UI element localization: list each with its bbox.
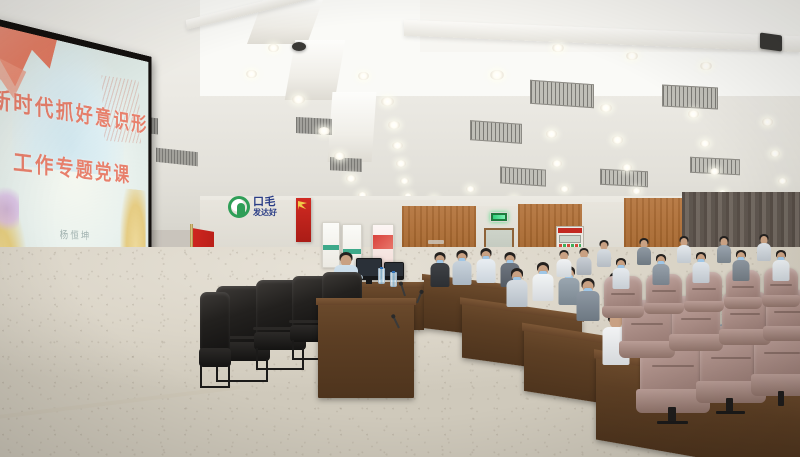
rear-attendee (652, 254, 670, 284)
logo-sub-text: 发达好 (253, 208, 277, 217)
person-torso (431, 263, 450, 287)
person-torso (577, 257, 592, 275)
logo-mark-icon (228, 196, 250, 218)
downlight (490, 70, 504, 80)
seat-leg (778, 391, 785, 406)
exit-sign-glow (493, 215, 505, 219)
downlight (466, 186, 475, 192)
downlight (358, 72, 369, 80)
rear-attendee (772, 250, 790, 280)
rear-attendee (576, 248, 592, 274)
rear-attendee (636, 238, 651, 264)
person-torso (507, 280, 528, 307)
downlight (381, 97, 394, 106)
logo-brand-text: 口毛 (253, 197, 276, 208)
downlight (346, 175, 356, 182)
control-panel-display (559, 235, 581, 243)
seat-cushion (763, 326, 800, 341)
rollup-banner-1-band (323, 245, 339, 250)
executive-chair[interactable] (200, 292, 230, 388)
rear-attendee (716, 236, 731, 262)
person-torso (613, 268, 630, 289)
downlight (622, 164, 632, 171)
downlight (246, 70, 257, 78)
chair-leg (200, 365, 230, 388)
downlight (626, 52, 638, 60)
ceiling-speaker-right (760, 32, 782, 51)
rear-attendee (612, 258, 630, 288)
person-torso (693, 262, 710, 283)
downlight (388, 121, 400, 129)
monitor-stand (366, 280, 371, 284)
person-torso (773, 260, 790, 281)
downlight (700, 140, 710, 147)
wall-party-flag (296, 198, 311, 242)
downlight (292, 95, 305, 104)
person-torso (577, 291, 600, 321)
downlight (400, 178, 409, 184)
person-torso (453, 261, 472, 285)
hvac-diffuser-3 (500, 166, 546, 186)
person-torso (677, 245, 691, 263)
downlight (710, 168, 719, 175)
flag-emblem-icon (298, 201, 307, 210)
downlight (552, 160, 562, 167)
seat-cushion (669, 334, 723, 350)
rollup-banner-3-band (373, 235, 393, 249)
hvac-diffuser-4 (662, 85, 718, 110)
person-torso (637, 247, 651, 265)
hvac-diffuser-1 (530, 80, 594, 108)
seat-foot (657, 421, 687, 424)
downlight (268, 44, 279, 52)
person-torso (653, 264, 670, 285)
rear-attendee (732, 250, 750, 280)
person-torso (557, 259, 572, 277)
downlight (778, 178, 787, 184)
downlight (600, 104, 612, 112)
water-bottle (378, 268, 385, 284)
exit-sign (490, 212, 508, 222)
rear-attendee (596, 240, 611, 266)
downlight (762, 118, 773, 126)
attendee-person (452, 250, 472, 284)
downlight (318, 127, 330, 135)
seat-cushion (751, 374, 800, 396)
chair-back (200, 292, 230, 352)
ceiling-soffit-c (328, 92, 377, 162)
person-torso (477, 259, 496, 283)
downlight (396, 160, 406, 167)
front-desk-block (318, 302, 414, 398)
downlight (770, 150, 780, 157)
water-bottle (390, 272, 397, 287)
rear-attendee (692, 252, 710, 282)
seat-cushion (644, 303, 684, 315)
attendee-person (532, 262, 554, 300)
seat-cushion (724, 297, 762, 308)
person-torso (533, 274, 554, 301)
control-panel-header (558, 228, 582, 233)
attendee-person (430, 252, 450, 286)
seat-cushion (602, 306, 645, 318)
person-torso (717, 245, 731, 263)
downlight (552, 44, 564, 52)
attendee-person (476, 248, 496, 282)
downlight (334, 152, 345, 160)
downlight (392, 142, 403, 149)
person-torso (733, 260, 750, 281)
hvac-vent-4 (330, 157, 362, 172)
rear-attendee (756, 234, 771, 260)
seat-cushion (619, 341, 675, 358)
wall-plaque (428, 240, 444, 244)
downlight (700, 62, 712, 70)
downlight (560, 186, 569, 192)
person-torso (597, 249, 611, 267)
ceiling-speaker-left (292, 42, 306, 51)
bottle-cap (392, 271, 395, 273)
hvac-diffuser-2 (470, 120, 522, 144)
seat-cushion (762, 295, 800, 306)
downlight (546, 130, 557, 138)
chair-seat (199, 348, 231, 367)
person-torso (757, 243, 771, 261)
attendee-person (506, 268, 528, 306)
conference-hall-photo: 口毛 发达好 新时代抓好意识形态 工作专题党课 杨恒坤 2020年7月2 (0, 0, 800, 457)
seat-cushion (684, 301, 724, 313)
downlight (688, 110, 699, 118)
bottle-cap (380, 267, 383, 269)
downlight (612, 136, 623, 144)
company-logo: 口毛 发达好 (228, 196, 294, 222)
attendee-person (576, 278, 600, 320)
front-desk-block-top (316, 298, 416, 305)
downlight (632, 188, 641, 194)
rear-attendee (676, 236, 691, 262)
rear-attendee (556, 250, 572, 276)
hvac-diffuser-5 (600, 169, 648, 188)
seat-foot (716, 411, 745, 414)
